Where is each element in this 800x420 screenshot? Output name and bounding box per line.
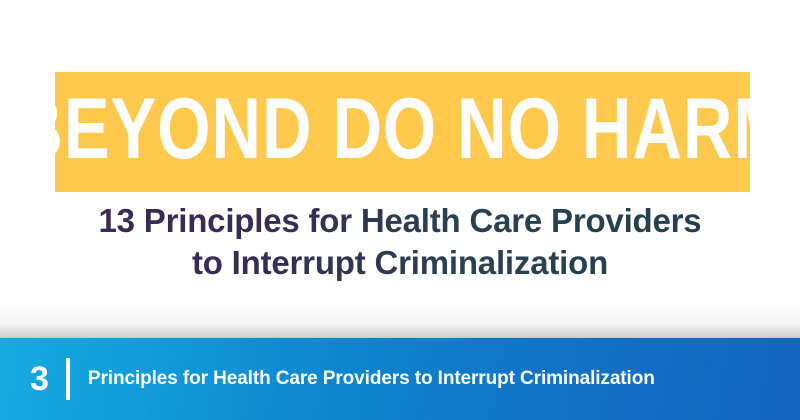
footer-shadow-strip: [0, 300, 800, 338]
hero-section: BEYOND DO NO HARM 13 Principles for Heal…: [0, 0, 800, 338]
headline-highlight-block: BEYOND DO NO HARM: [55, 72, 750, 192]
subtitle-line-2: to Interrupt Criminalization: [0, 242, 800, 284]
promo-banner: BEYOND DO NO HARM 13 Principles for Heal…: [0, 0, 800, 420]
footer-page-number: 3: [30, 362, 49, 396]
footer-divider: [66, 358, 70, 400]
footer-bar: 3 Principles for Health Care Providers t…: [0, 338, 800, 420]
subtitle: 13 Principles for Health Care Providers …: [0, 200, 800, 284]
footer-title: Principles for Health Care Providers to …: [88, 368, 655, 390]
headline-text: BEYOND DO NO HARM: [55, 90, 750, 169]
subtitle-line-1: 13 Principles for Health Care Providers: [0, 200, 800, 242]
